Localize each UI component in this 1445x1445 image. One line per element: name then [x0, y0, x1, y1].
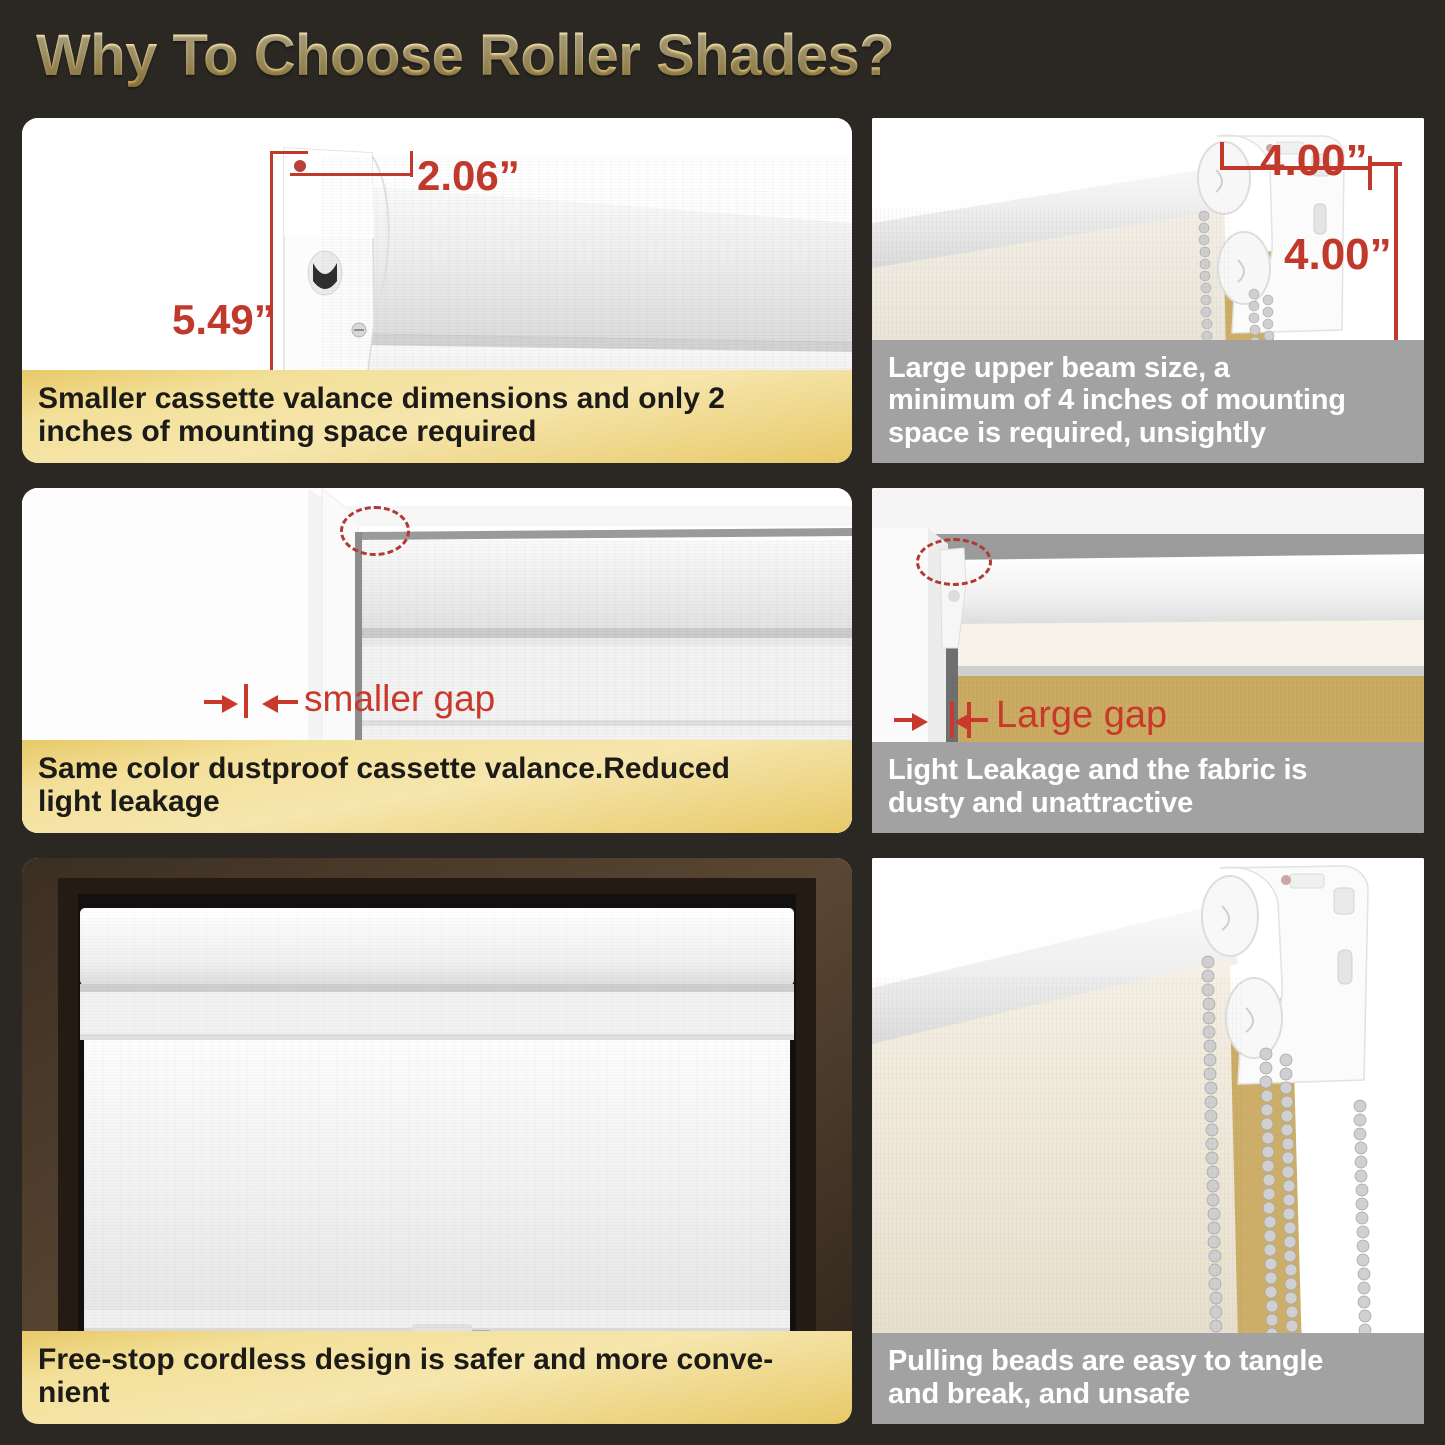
gap-arrow-right-tail: [278, 700, 298, 704]
gap-highlight-ellipse: [916, 538, 992, 586]
caption-line: and break, and unsafe: [888, 1378, 1408, 1410]
caption-line: inches of mounting space required: [38, 415, 836, 449]
infographic-root: Why To Choose Roller Shades?: [0, 0, 1445, 1445]
gap-label-large: Large gap: [996, 694, 1167, 737]
gap-arrow-left-tail: [894, 718, 914, 722]
caption-line: Free-stop cordless design is safer and m…: [38, 1343, 836, 1377]
dimension-label-width: 4.00”: [1260, 136, 1368, 186]
caption-large-upper-beam: Large upper beam size, a minimum of 4 in…: [872, 340, 1424, 463]
gap-marker-bar-inner: [967, 702, 971, 738]
panel-large-upper-beam: 4.00” 4.00” Large upper beam size, a min…: [872, 118, 1424, 463]
caption-line: Large upper beam size, a: [888, 352, 1408, 384]
dimension-line-height-vertical: [1394, 162, 1398, 354]
caption-dustproof-cassette-valance: Same color dustproof cassette valance.Re…: [22, 740, 852, 833]
gap-arrow-right: [262, 695, 278, 713]
panel-dustproof-cassette-valance: smaller gap Same color dustproof cassett…: [22, 488, 852, 833]
gap-marker-bar: [244, 684, 248, 718]
caption-pulling-beads-tangle: Pulling beads are easy to tangle and bre…: [872, 1333, 1424, 1424]
panel-pulling-beads-tangle: Pulling beads are easy to tangle and bre…: [872, 858, 1424, 1424]
panel-cassette-valance-dimensions: 5.49” 2.06” Smaller cassette valance dim…: [22, 118, 852, 463]
caption-cassette-valance-dimensions: Smaller cassette valance dimensions and …: [22, 370, 852, 463]
caption-line: Smaller cassette valance dimensions and …: [38, 382, 836, 416]
caption-light-leakage-dusty-fabric: Light Leakage and the fabric is dusty an…: [872, 742, 1424, 833]
gap-arrow-right-tail: [970, 718, 988, 722]
dimension-label-height: 4.00”: [1284, 230, 1392, 280]
gap-marker-bar-outer: [950, 702, 954, 738]
caption-line: minimum of 4 inches of mounting: [888, 384, 1408, 416]
caption-line: Pulling beads are easy to tangle: [888, 1345, 1408, 1377]
panel-free-stop-cordless-design: Free-stop cordless design is safer and m…: [22, 858, 852, 1424]
panel-light-leakage-dusty-fabric: Large gap Light Leakage and the fabric i…: [872, 488, 1424, 833]
gap-arrow-left: [912, 713, 928, 731]
seam-highlight-ellipse: [340, 506, 410, 556]
dimension-line-width-horizontal: [290, 173, 412, 176]
dimension-label-height: 5.49”: [172, 296, 275, 344]
caption-line: nient: [38, 1376, 836, 1410]
caption-line: Light Leakage and the fabric is: [888, 754, 1408, 786]
caption-line: Same color dustproof cassette valance.Re…: [38, 752, 836, 786]
gap-label-smaller: smaller gap: [304, 678, 495, 720]
gap-arrow-left: [222, 695, 238, 713]
dimension-tick-width-left: [1220, 142, 1224, 170]
caption-line: light leakage: [38, 785, 836, 819]
gap-arrow-left-tail: [204, 700, 224, 704]
caption-line: space is required, unsightly: [888, 417, 1408, 449]
dimension-tick-height-top: [1368, 162, 1402, 166]
dimension-label-width: 2.06”: [417, 152, 520, 200]
dimension-tick-width-right: [410, 151, 413, 177]
caption-line: dusty and unattractive: [888, 787, 1408, 819]
dimension-tick-height-top: [270, 151, 308, 154]
caption-free-stop-cordless-design: Free-stop cordless design is safer and m…: [22, 1331, 852, 1424]
page-title: Why To Choose Roller Shades?: [36, 22, 894, 89]
